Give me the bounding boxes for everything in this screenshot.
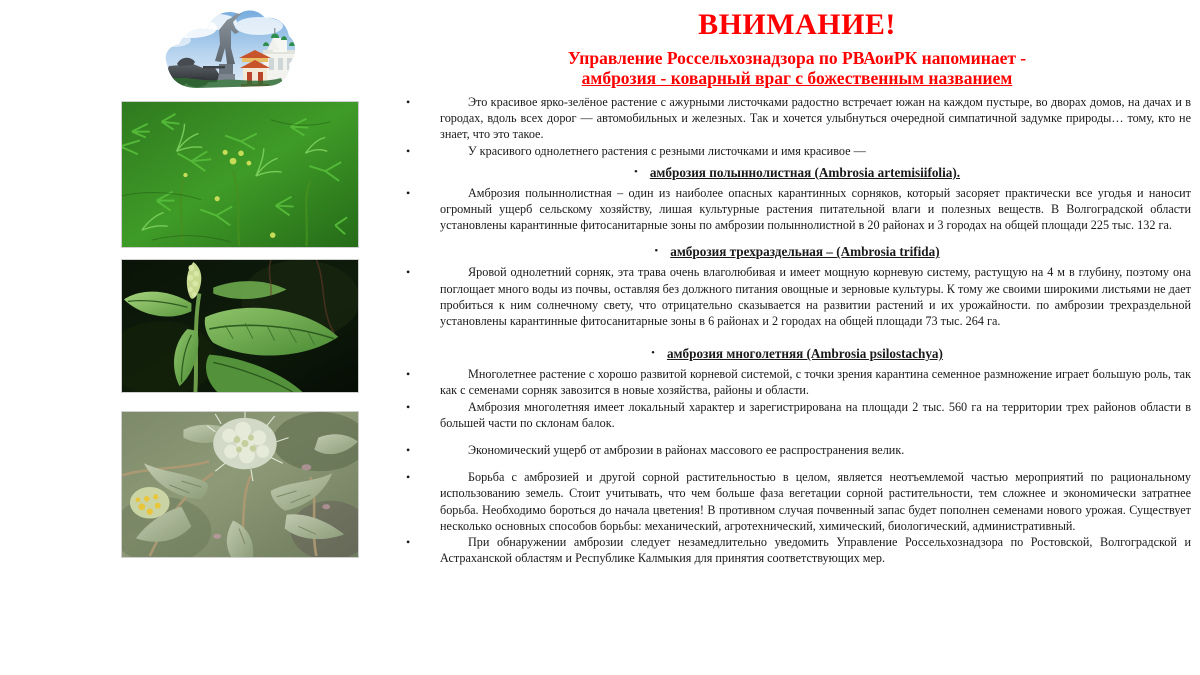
species-heading-psilostachya: •амброзия многолетняя (Ambrosia psilosta…	[397, 344, 1197, 363]
ambrosia-psilostachya-photo	[121, 411, 359, 558]
paragraph-psilostachya-area: Амброзия многолетняя имеет локальный хар…	[397, 399, 1197, 431]
species-bullet-icon: •	[651, 347, 655, 359]
species-heading-text: амброзия полыннолистная (Ambrosia artemi…	[650, 165, 960, 180]
subtitle-line-2: амброзия - коварный враг с божественным …	[397, 68, 1197, 88]
paragraph-name-lead-in: У красивого однолетнего растения с резны…	[397, 143, 1197, 159]
page-subtitle: Управление Россельхознадзора по РВАоиРК …	[397, 48, 1197, 88]
paragraph-psilostachya-seeds: Многолетнее растение с хорошо развитой к…	[397, 366, 1197, 398]
left-media-column	[0, 0, 395, 675]
species-bullet-icon: •	[654, 245, 658, 257]
regional-monuments-collage-image	[155, 6, 301, 94]
ambrosia-trifida-photo	[121, 259, 359, 393]
paragraph-trifida: Яровой однолетний сорняк, эта трава очен…	[397, 264, 1197, 329]
ambrosia-artemisiifolia-photo	[121, 101, 359, 248]
paragraph-control-methods: Борьба с амброзией и другой сорной расти…	[397, 469, 1197, 534]
species-heading-artemisiifolia: •амброзия полыннолистная (Ambrosia artem…	[397, 163, 1197, 182]
paragraph-intro: Это красивое ярко-зелёное растение с ажу…	[397, 94, 1197, 143]
species-heading-text: амброзия трехраздельная – (Ambrosia trif…	[670, 244, 939, 259]
slide-root: ВНИМАНИЕ! Управление Россельхознадзора п…	[0, 0, 1200, 675]
content-column: ВНИМАНИЕ! Управление Россельхознадзора п…	[397, 0, 1197, 675]
species-heading-text: амброзия многолетняя (Ambrosia psilostac…	[667, 346, 943, 361]
paragraph-notify-authority: При обнаружении амброзии следует незамед…	[397, 534, 1197, 566]
page-title: ВНИМАНИЕ!	[397, 8, 1197, 42]
species-heading-trifida: •амброзия трехраздельная – (Ambrosia tri…	[397, 242, 1197, 261]
paragraph-artemisiifolia: Амброзия полыннолистная – один из наибол…	[397, 185, 1197, 234]
body-text-area: Это красивое ярко-зелёное растение с ажу…	[397, 94, 1197, 566]
species-bullet-icon: •	[634, 166, 638, 178]
paragraph-economic-damage: Экономический ущерб от амброзии в района…	[397, 442, 1197, 458]
subtitle-line-1: Управление Россельхознадзора по РВАоиРК …	[568, 48, 1026, 68]
